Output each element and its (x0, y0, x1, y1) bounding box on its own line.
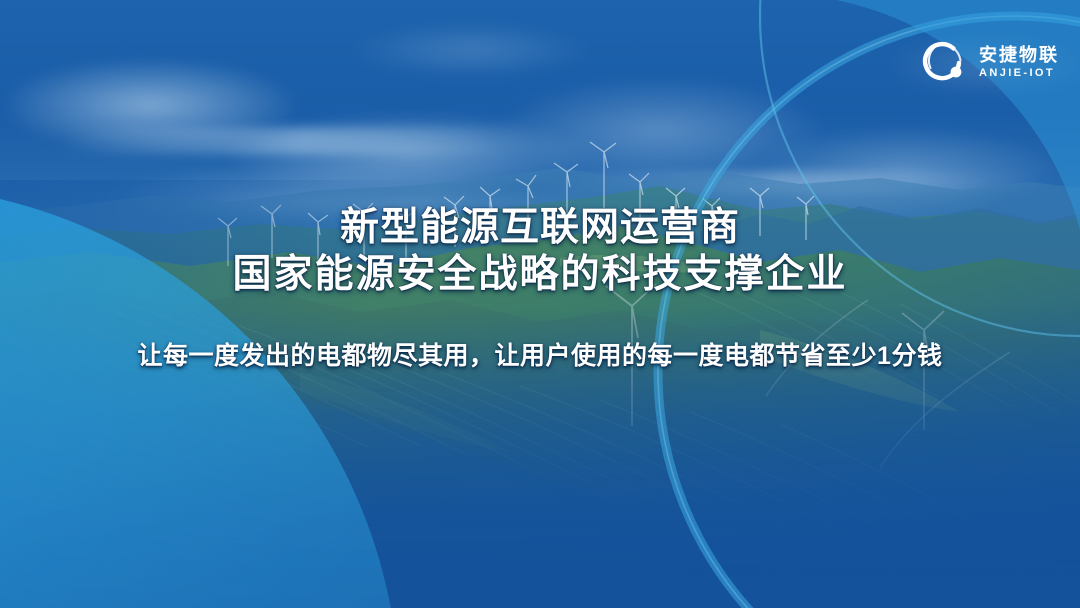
anjie-swirl-ring-icon (918, 36, 970, 88)
subtitle: 让每一度发出的电都物尽其用，让用户使用的每一度电都节省至少1分钱 (0, 339, 1080, 373)
page-title: 新型能源互联网运营商 国家能源安全战略的科技支撑企业 (0, 204, 1080, 298)
headline-line-1: 新型能源互联网运营商 (0, 204, 1080, 251)
brand-logo[interactable]: 安捷物联 ANJIE-IOT (918, 36, 1059, 88)
logo-name-en: ANJIE-IOT (979, 68, 1059, 79)
banner-slide: 新型能源互联网运营商 国家能源安全战略的科技支撑企业 让每一度发出的电都物尽其用… (0, 0, 1080, 608)
logo-name-cn: 安捷物联 (979, 46, 1059, 64)
headline-line-2: 国家能源安全战略的科技支撑企业 (0, 251, 1080, 298)
logo-wordmark: 安捷物联 ANJIE-IOT (979, 46, 1059, 79)
